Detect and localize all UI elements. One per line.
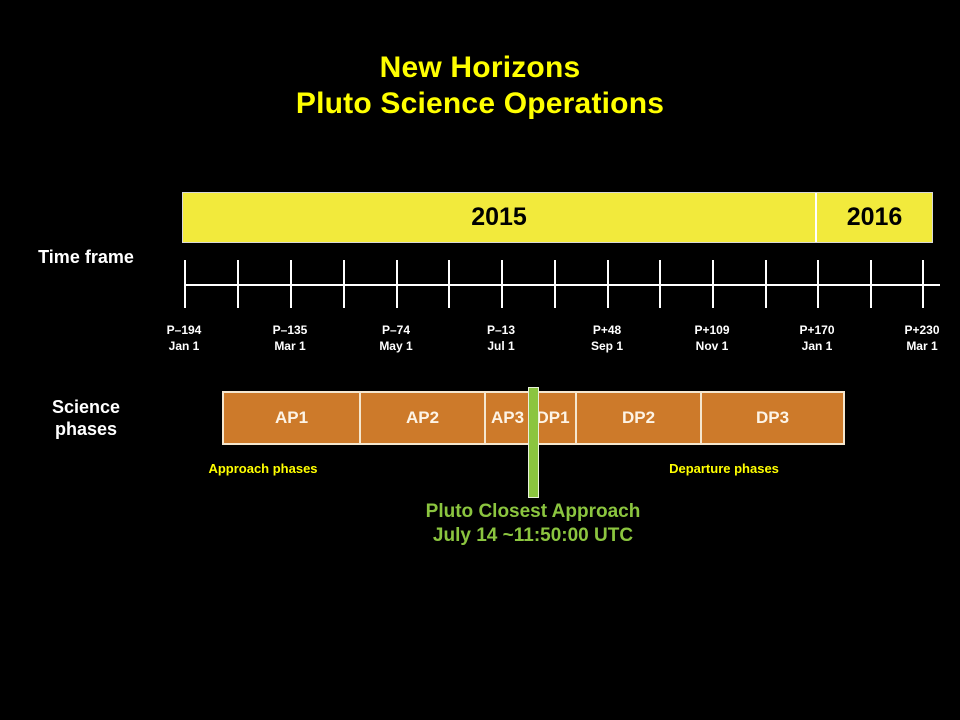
- tick-label-date-5: Nov 1: [652, 338, 772, 354]
- axis-tick-7: [554, 260, 556, 308]
- caption-approach-phases: Approach phases: [153, 460, 373, 478]
- closest-approach-marker: [528, 387, 539, 498]
- science-phases-label-line-2: phases: [55, 419, 117, 439]
- tick-label-7: P+230Mar 1: [862, 322, 960, 354]
- tick-label-code-2: P–74: [336, 322, 456, 338]
- tick-label-code-4: P+48: [547, 322, 667, 338]
- tick-label-date-6: Jan 1: [757, 338, 877, 354]
- slide-canvas: New Horizons Pluto Science Operations Ti…: [0, 0, 960, 720]
- phase-cell-ap1[interactable]: AP1: [224, 393, 361, 443]
- tick-label-code-5: P+109: [652, 322, 772, 338]
- phase-cell-ap3[interactable]: AP3: [486, 393, 531, 443]
- timeline-tick-labels: P–194Jan 1P–135Mar 1P–74May 1P–13Jul 1P+…: [0, 322, 960, 358]
- axis-tick-2: [290, 260, 292, 308]
- tick-label-date-1: Mar 1: [230, 338, 350, 354]
- axis-tick-6: [501, 260, 503, 308]
- closest-approach-line-2: July 14 ~11:50:00 UTC: [283, 524, 783, 548]
- axis-tick-11: [765, 260, 767, 308]
- tick-label-5: P+109Nov 1: [652, 322, 772, 354]
- row-label-science-phases: Science phases: [6, 396, 166, 440]
- tick-label-6: P+170Jan 1: [757, 322, 877, 354]
- tick-label-date-0: Jan 1: [124, 338, 244, 354]
- year-bar: 2015 2016: [182, 192, 933, 243]
- phase-cell-dp3[interactable]: DP3: [702, 393, 843, 443]
- axis-tick-10: [712, 260, 714, 308]
- axis-tick-1: [237, 260, 239, 308]
- closest-approach-caption: Pluto Closest Approach July 14 ~11:50:00…: [283, 500, 783, 548]
- axis-baseline: [184, 284, 940, 286]
- tick-label-4: P+48Sep 1: [547, 322, 667, 354]
- phase-cell-dp2[interactable]: DP2: [577, 393, 702, 443]
- title-line-2: Pluto Science Operations: [0, 86, 960, 122]
- tick-label-code-0: P–194: [124, 322, 244, 338]
- title-line-1: New Horizons: [0, 50, 960, 86]
- caption-departure-phases: Departure phases: [614, 460, 834, 478]
- page-title: New Horizons Pluto Science Operations: [0, 50, 960, 122]
- tick-label-3: P–13Jul 1: [441, 322, 561, 354]
- axis-tick-8: [607, 260, 609, 308]
- axis-tick-5: [448, 260, 450, 308]
- row-label-time-frame: Time frame: [6, 246, 166, 268]
- tick-label-1: P–135Mar 1: [230, 322, 350, 354]
- year-cell-2015: 2015: [183, 193, 817, 242]
- axis-tick-0: [184, 260, 186, 308]
- tick-label-date-3: Jul 1: [441, 338, 561, 354]
- closest-approach-line-1: Pluto Closest Approach: [283, 500, 783, 524]
- tick-label-date-4: Sep 1: [547, 338, 667, 354]
- tick-label-code-7: P+230: [862, 322, 960, 338]
- tick-label-2: P–74May 1: [336, 322, 456, 354]
- tick-label-date-7: Mar 1: [862, 338, 960, 354]
- axis-tick-4: [396, 260, 398, 308]
- axis-tick-12: [817, 260, 819, 308]
- axis-tick-9: [659, 260, 661, 308]
- tick-label-code-3: P–13: [441, 322, 561, 338]
- tick-label-date-2: May 1: [336, 338, 456, 354]
- science-phases-label-line-1: Science: [52, 397, 120, 417]
- axis-tick-3: [343, 260, 345, 308]
- axis-tick-14: [922, 260, 924, 308]
- timeline-axis: [182, 258, 940, 310]
- tick-label-code-1: P–135: [230, 322, 350, 338]
- tick-label-code-6: P+170: [757, 322, 877, 338]
- axis-tick-13: [870, 260, 872, 308]
- year-cell-2016: 2016: [817, 193, 932, 242]
- phase-cell-ap2[interactable]: AP2: [361, 393, 486, 443]
- tick-label-0: P–194Jan 1: [124, 322, 244, 354]
